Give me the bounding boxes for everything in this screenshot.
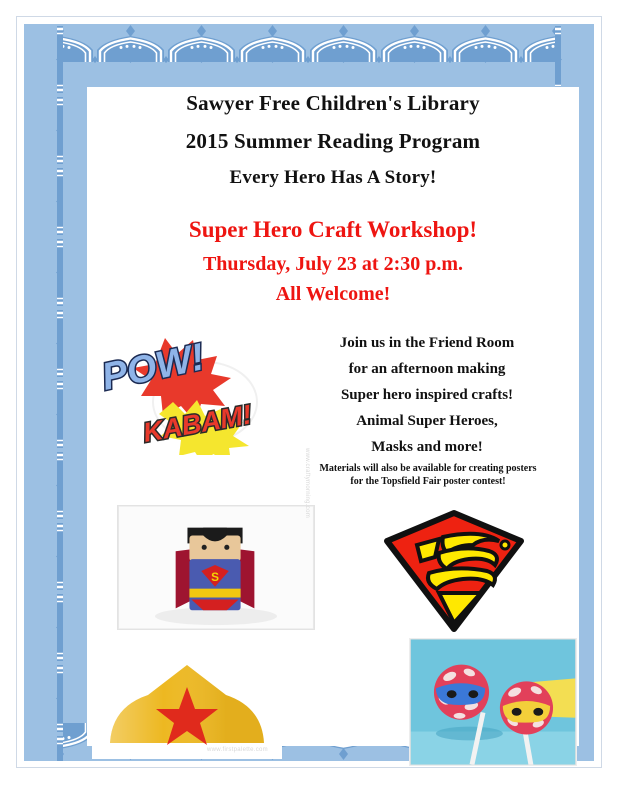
event-description: Join us in the Friend Room for an aftern… xyxy=(277,335,577,465)
wonder-woman-tiara-photo: www.firstpalette.com xyxy=(92,659,282,759)
description-line: Animal Super Heroes, xyxy=(277,413,577,430)
border-band-left xyxy=(24,24,63,761)
materials-note-line: for the Topsfield Fair poster contest! xyxy=(273,475,583,488)
event-datetime: Thursday, July 23 at 2:30 p.m. xyxy=(87,253,579,276)
library-name-heading: Sawyer Free Children's Library xyxy=(87,91,579,116)
materials-note-line: Materials will also be available for cre… xyxy=(273,462,583,475)
description-line: for an afternoon making xyxy=(277,361,577,378)
superman-shield-logo xyxy=(377,507,532,635)
program-tagline-heading: Every Hero Has A Story! xyxy=(87,167,579,189)
border-motif-top xyxy=(24,24,594,63)
description-line: Masks and more! xyxy=(277,439,577,456)
photo-watermark: www.craftymorning.com xyxy=(304,448,310,518)
photo-watermark: www.firstpalette.com xyxy=(207,747,268,753)
superhero-lollipops-photo xyxy=(409,638,577,766)
flyer-page: Sawyer Free Children's Library 2015 Summ… xyxy=(0,0,618,800)
border-motif-left xyxy=(24,24,63,761)
materials-note: Materials will also be available for cre… xyxy=(273,462,583,488)
decorative-border-frame: Sawyer Free Children's Library 2015 Summ… xyxy=(24,24,594,761)
comic-burst-art: POW! KABAM! xyxy=(97,330,267,455)
border-band-top xyxy=(24,24,594,63)
svg-text:S: S xyxy=(211,570,219,584)
event-audience: All Welcome! xyxy=(87,283,579,306)
description-line: Join us in the Friend Room xyxy=(277,335,577,352)
description-line: Super hero inspired crafts! xyxy=(277,387,577,404)
content-panel: Sawyer Free Children's Library 2015 Summ… xyxy=(87,87,579,746)
event-title: Super Hero Craft Workshop! xyxy=(87,217,579,243)
superman-toilet-roll-craft-photo: S www.craftymorning.com xyxy=(117,505,315,630)
program-name-heading: 2015 Summer Reading Program xyxy=(87,129,579,154)
